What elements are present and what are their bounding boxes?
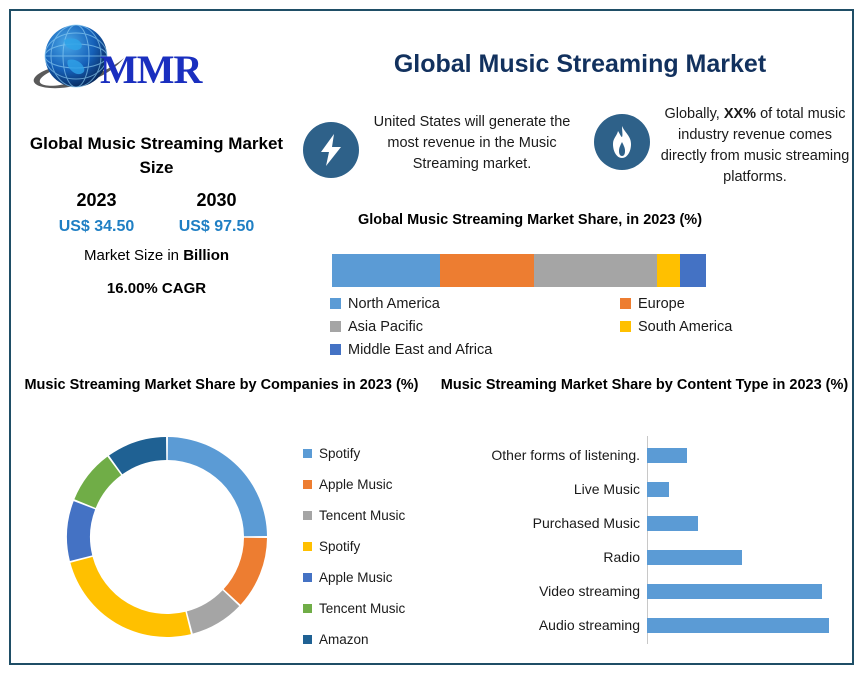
page-title: Global Music Streaming Market	[300, 50, 860, 79]
market-size-years: 2023 US$ 34.50 2030 US$ 97.50	[14, 190, 299, 236]
legend-label: Spotify	[319, 446, 360, 461]
globe-icon	[44, 24, 108, 88]
legend-item: Spotify	[303, 531, 433, 562]
infographic-page: MMR Global Music Streaming Market Global…	[0, 0, 865, 676]
donut-slice	[67, 501, 95, 561]
stacked-bar-segment	[440, 254, 534, 287]
legend-item: Spotify	[303, 438, 433, 469]
legend-item: Asia Pacific	[330, 315, 620, 338]
legend-swatch-icon	[303, 480, 312, 489]
bar-row: Purchased Music	[440, 506, 850, 540]
bar-row: Video streaming	[440, 574, 850, 608]
legend-swatch-icon	[303, 542, 312, 551]
legend-label: Tencent Music	[319, 508, 405, 523]
bar-track	[647, 574, 850, 608]
bar-fill	[647, 516, 698, 531]
lightning-bolt-icon	[316, 133, 346, 167]
bar-row: Radio	[440, 540, 850, 574]
legend-item: Middle East and Africa	[330, 338, 620, 361]
legend-label: Amazon	[319, 632, 369, 647]
stacked-bar-segment	[332, 254, 440, 287]
legend-item: Tencent Music	[303, 593, 433, 624]
bar-fill	[647, 550, 742, 565]
donut-slice	[74, 457, 121, 508]
market-size-heading: Global Music Streaming Market Size	[14, 132, 299, 180]
mmr-logo: MMR	[22, 20, 287, 92]
donut-slice	[109, 437, 166, 474]
stacked-bar-segment	[657, 254, 679, 287]
year-value: US$ 34.50	[37, 218, 157, 236]
legend-label: Europe	[638, 296, 685, 312]
stacked-bar-title: Global Music Streaming Market Share, in …	[325, 212, 735, 228]
cagr-value: 16.00% CAGR	[14, 280, 299, 297]
legend-swatch-icon	[303, 449, 312, 458]
bar-row: Live Music	[440, 472, 850, 506]
donut-chart-legend: SpotifyApple MusicTencent MusicSpotifyAp…	[303, 438, 433, 655]
year-label: 2030	[157, 190, 277, 211]
bar-category-label: Video streaming	[440, 583, 647, 599]
legend-label: Apple Music	[319, 477, 393, 492]
legend-swatch-icon	[330, 321, 341, 332]
bar-row: Other forms of listening.	[440, 438, 850, 472]
legend-swatch-icon	[303, 604, 312, 613]
legend-item: North America	[330, 292, 620, 315]
flame-icon	[609, 125, 635, 159]
logo-text: MMR	[100, 46, 201, 93]
stacked-bar-segment	[534, 254, 657, 287]
lightning-bolt-badge	[303, 122, 359, 178]
legend-item: Europe	[620, 292, 770, 315]
market-size-year-2030: 2030 US$ 97.50	[157, 190, 277, 236]
legend-swatch-icon	[620, 321, 631, 332]
legend-label: Tencent Music	[319, 601, 405, 616]
legend-item: Apple Music	[303, 562, 433, 593]
stacked-bar-legend: North AmericaEuropeAsia PacificSouth Ame…	[330, 292, 770, 361]
legend-swatch-icon	[303, 573, 312, 582]
donut-slice	[187, 590, 239, 633]
bar-fill	[647, 618, 829, 633]
bar-category-label: Live Music	[440, 481, 647, 497]
legend-swatch-icon	[303, 635, 312, 644]
callout-text: United States will generate the most rev…	[359, 112, 581, 175]
bar-track	[647, 472, 850, 506]
donut-slice	[70, 557, 191, 637]
donut-slice	[224, 538, 267, 605]
legend-label: Spotify	[319, 539, 360, 554]
bar-track	[647, 540, 850, 574]
callout-text-before: Globally,	[664, 106, 723, 122]
legend-label: Middle East and Africa	[348, 342, 492, 358]
bar-category-label: Purchased Music	[440, 515, 647, 531]
legend-item: Apple Music	[303, 469, 433, 500]
callout-text: Globally, XX% of total music industry re…	[650, 104, 856, 188]
content-type-bar-chart: Other forms of listening.Live MusicPurch…	[440, 436, 850, 650]
unit-prefix: Market Size in	[84, 247, 183, 264]
legend-swatch-icon	[330, 344, 341, 355]
legend-label: Asia Pacific	[348, 319, 423, 335]
bar-row: Audio streaming	[440, 608, 850, 642]
market-size-year-2023: 2023 US$ 34.50	[37, 190, 157, 236]
bar-category-label: Other forms of listening.	[440, 447, 647, 463]
legend-item: South America	[620, 315, 770, 338]
legend-label: South America	[638, 319, 732, 335]
bar-fill	[647, 482, 669, 497]
bar-category-label: Radio	[440, 549, 647, 565]
flame-badge	[594, 114, 650, 170]
legend-label: North America	[348, 296, 440, 312]
donut-chart-title: Music Streaming Market Share by Companie…	[14, 374, 429, 396]
donut-chart-svg	[56, 424, 278, 650]
year-label: 2023	[37, 190, 157, 211]
stacked-bar-chart	[332, 254, 706, 287]
bar-fill	[647, 584, 822, 599]
year-value: US$ 97.50	[157, 218, 277, 236]
legend-swatch-icon	[620, 298, 631, 309]
callout-united-states: United States will generate the most rev…	[303, 112, 581, 178]
unit-emphasis: Billion	[183, 247, 229, 264]
legend-label: Apple Music	[319, 570, 393, 585]
callout-global-revenue: Globally, XX% of total music industry re…	[594, 104, 856, 188]
bar-track	[647, 438, 850, 472]
bar-category-label: Audio streaming	[440, 617, 647, 633]
donut-slice	[168, 437, 267, 536]
market-size-panel: Global Music Streaming Market Size 2023 …	[14, 132, 299, 297]
content-type-chart-title: Music Streaming Market Share by Content …	[437, 374, 852, 396]
donut-chart	[56, 424, 278, 650]
bar-track	[647, 506, 850, 540]
bar-track	[647, 608, 850, 642]
legend-item: Amazon	[303, 624, 433, 655]
callout-text-emphasis: XX%	[724, 106, 756, 122]
legend-item: Tencent Music	[303, 500, 433, 531]
market-size-unit: Market Size in Billion	[14, 247, 299, 264]
bar-fill	[647, 448, 687, 463]
legend-swatch-icon	[330, 298, 341, 309]
stacked-bar-segment	[680, 254, 706, 287]
legend-swatch-icon	[303, 511, 312, 520]
